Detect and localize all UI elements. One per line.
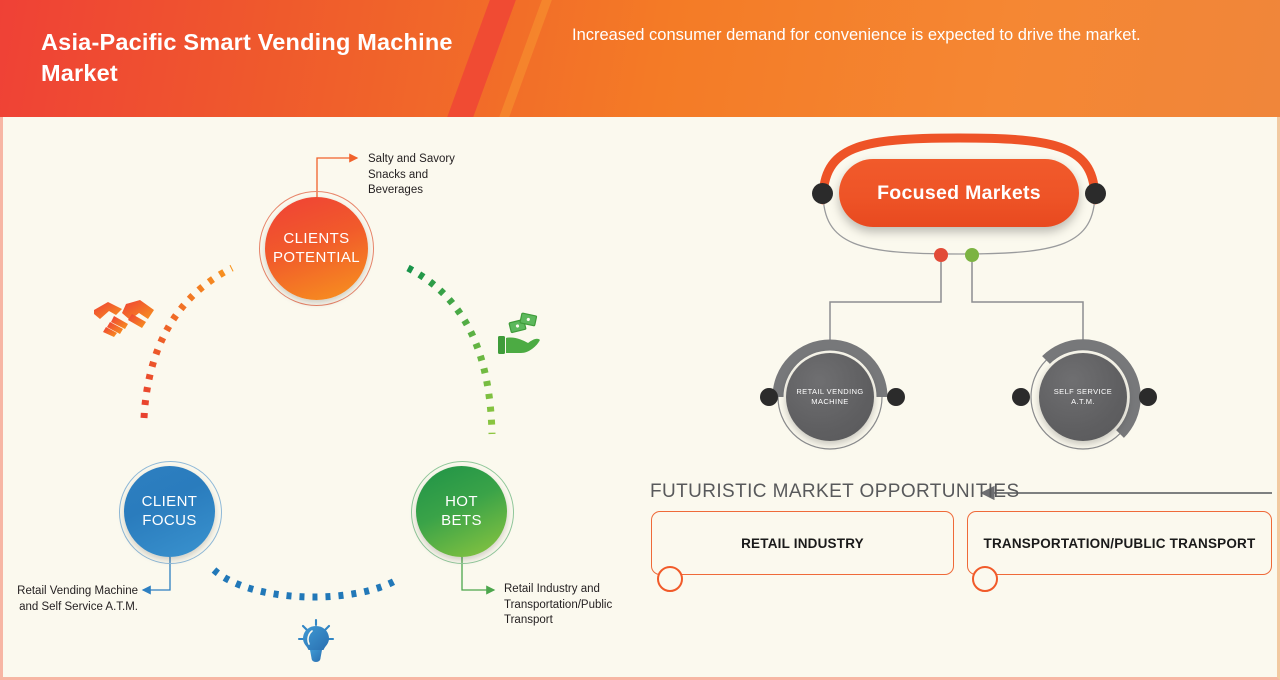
node-clients-potential-line1: CLIENTS [283,230,349,247]
money-in-hand-icon [497,310,541,356]
node-clients-potential-line2: POTENTIAL [273,249,360,266]
callout-client-focus: Retail Vending Machine and Self Service … [8,584,138,615]
node-client-focus[interactable]: CLIENT FOCUS [124,466,215,557]
page-title: Asia-Pacific Smart Vending Machine Marke… [41,27,471,90]
opportunity-retail-label: RETAIL INDUSTRY [741,536,864,551]
header-subtitle: Increased consumer demand for convenienc… [572,24,1212,48]
header-banner: Asia-Pacific Smart Vending Machine Marke… [0,0,1280,117]
node-clients-potential[interactable]: CLIENTS POTENTIAL [265,197,368,300]
opportunity-box-retail-industry[interactable]: RETAIL INDUSTRY [651,511,954,575]
focused-markets-label: Focused Markets [877,182,1041,205]
callout-hot-bets: Retail Industry and Transportation/Publi… [504,582,628,629]
infographic-canvas: Asia-Pacific Smart Vending Machine Marke… [0,0,1280,680]
connector-dot-retail [934,248,948,262]
node-hot-bets-line2: BETS [441,512,482,529]
opportunity-box-transportation[interactable]: TRANSPORTATION/PUBLIC TRANSPORT [967,511,1272,575]
atm-circle-left-dot [1012,388,1030,406]
node-client-focus-line1: CLIENT [142,493,198,510]
opportunity-transport-dot [972,566,998,592]
badge-left-dot [812,183,833,204]
node-hot-bets-line1: HOT [445,493,478,510]
retail-circle-right-dot [887,388,905,406]
lightbulb-icon [297,618,335,664]
market-retail-line2: MACHINE [811,397,848,406]
opportunity-retail-dot [657,566,683,592]
market-atm-line2: A.T.M. [1071,397,1095,406]
market-retail-line1: RETAIL VENDING [796,387,863,396]
market-self-service-atm[interactable]: SELF SERVICE A.T.M. [1039,353,1127,441]
market-retail-vending-machine[interactable]: RETAIL VENDING MACHINE [786,353,874,441]
node-hot-bets[interactable]: HOT BETS [416,466,507,557]
opportunity-transport-label: TRANSPORTATION/PUBLIC TRANSPORT [984,536,1256,551]
focused-markets-badge[interactable]: Focused Markets [839,159,1079,227]
market-atm-line1: SELF SERVICE [1054,387,1112,396]
futuristic-section-title: FUTURISTIC MARKET OPPORTUNITIES [650,481,1020,503]
retail-circle-left-dot [760,388,778,406]
callout-clients-potential: Salty and Savory Snacks and Beverages [368,152,468,199]
atm-circle-right-dot [1139,388,1157,406]
handshake-icon [92,296,156,340]
node-client-focus-line2: FOCUS [142,512,197,529]
badge-right-dot [1085,183,1106,204]
connector-dot-atm [965,248,979,262]
